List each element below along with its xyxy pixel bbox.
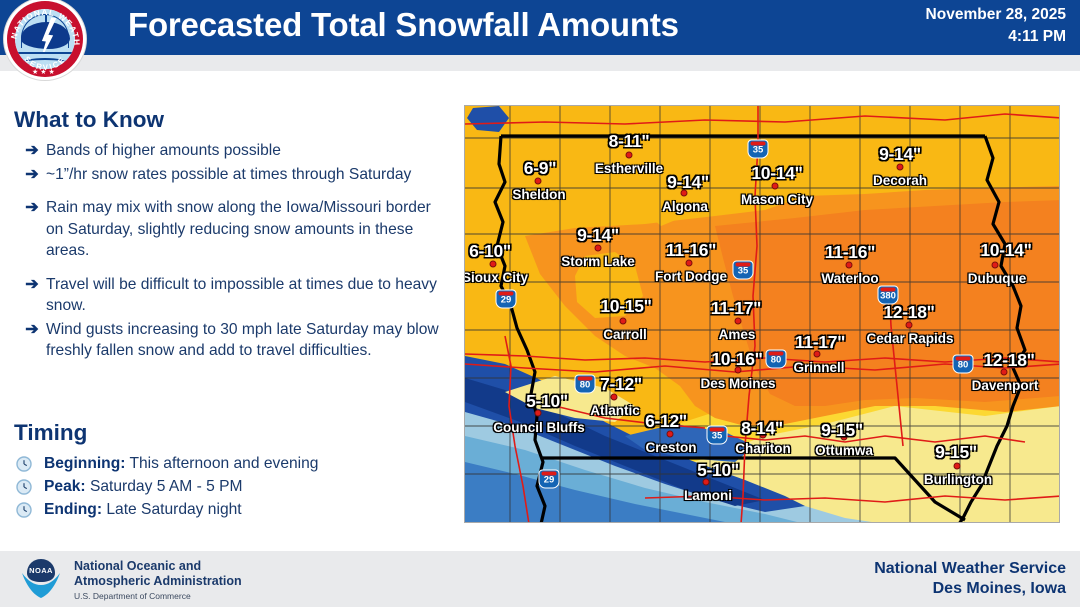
noaa-line-1: National Oceanic and [74,559,242,574]
timing-value: This afternoon and evening [129,455,318,472]
clock-icon [14,476,44,495]
highway-shield-i80: 80 [766,350,787,369]
nws-office-name: National Weather Service [874,559,1066,579]
highway-shield-i380: 380 [878,286,899,305]
city-dot-burlington [954,463,961,470]
city-label-creston: Creston [645,440,696,455]
national-weather-service-seal-icon: NATIONAL WEATHER SERVICE ★ ★ ★ [4,0,86,80]
what-to-know-title: What to Know [14,107,446,133]
city-label-mason-city: Mason City [741,192,813,207]
bullet-item: ➔ Travel will be difficult to impossible… [14,274,446,317]
snow-amount-sioux-city: 6-10" [469,241,511,262]
snow-amount-council-bluffs: 5-10" [526,391,568,412]
city-label-sioux-city: Sioux City [464,270,528,285]
arrow-icon: ➔ [14,197,46,219]
bullet-item: ➔ ~1”/hr snow rates possible at times th… [14,164,446,186]
timing-text: Beginning: This afternoon and evening [44,453,446,475]
snow-amount-des-moines: 10-16" [711,349,762,370]
bullet-item: ➔ Wind gusts increasing to 30 mph late S… [14,319,446,362]
svg-text:NATIONAL WEATHER: NATIONAL WEATHER [4,0,81,46]
city-label-des-moines: Des Moines [700,376,775,391]
what-to-know-panel: What to Know ➔ Bands of higher amounts p… [14,107,446,364]
city-label-burlington: Burlington [924,472,992,487]
city-label-decorah: Decorah [873,173,927,188]
snow-amount-ottumwa: 9-15" [821,420,863,441]
snow-amount-estherville: 8-11" [609,131,650,152]
noaa-line-2: Atmospheric Administration [74,574,242,589]
city-label-estherville: Estherville [595,161,663,176]
highway-shield-i29: 29 [496,290,517,309]
city-label-ottumwa: Ottumwa [815,443,873,458]
city-label-dubuque: Dubuque [968,271,1027,286]
snow-amount-storm-lake: 9-14" [577,225,619,246]
city-label-grinnell: Grinnell [793,360,844,375]
city-label-atlantic: Atlantic [590,403,640,418]
clock-icon [14,499,44,518]
timing-text: Peak: Saturday 5 AM - 5 PM [44,476,446,498]
city-label-davenport: Davenport [972,378,1039,393]
timing-value: Late Saturday night [106,501,241,518]
noaa-logo-icon: NOAA [18,557,64,601]
snow-amount-burlington: 9-15" [935,442,977,463]
nws-office-location: Des Moines, Iowa [874,579,1066,599]
bullet-text: Rain may mix with snow along the Iowa/Mi… [46,197,446,262]
snow-amount-ames: 11-17" [711,298,761,319]
timing-item: Beginning: This afternoon and evening [14,453,446,475]
snow-amount-chariton: 8-14" [741,418,783,439]
city-dot-estherville [626,152,633,159]
timing-title: Timing [14,420,446,446]
snow-amount-davenport: 12-18" [983,350,1034,371]
city-dot-dubuque [992,262,999,269]
snowfall-forecast-map[interactable]: Estherville Sheldon Algona Mason City De… [464,105,1060,523]
arrow-icon: ➔ [14,319,46,341]
snow-amount-algona: 9-14" [667,172,709,193]
snow-amount-creston: 6-12" [645,411,687,432]
city-label-ames: Ames [719,327,756,342]
arrow-icon: ➔ [14,140,46,162]
timing-value: Saturday 5 AM - 5 PM [90,478,243,495]
city-label-chariton: Chariton [735,441,791,456]
arrow-icon: ➔ [14,274,46,296]
snow-amount-carroll: 10-15" [600,296,651,317]
city-label-carroll: Carroll [603,327,647,342]
arrow-icon: ➔ [14,164,46,186]
city-label-cedar-rapids: Cedar Rapids [866,331,953,346]
snow-amount-waterloo: 11-16" [825,242,875,263]
bullet-item: ➔ Bands of higher amounts possible [14,140,446,162]
city-dot-carroll [620,318,627,325]
svg-text:NOAA: NOAA [29,566,53,575]
timing-panel: Timing Beginning: This afternoon and eve… [14,420,446,522]
snow-amount-sheldon: 6-9" [524,158,556,179]
timing-label: Ending: [44,501,102,518]
city-label-storm-lake: Storm Lake [561,254,635,269]
city-label-lamoni: Lamoni [684,488,732,503]
snow-amount-dubuque: 10-14" [980,240,1031,261]
header-time: 4:11 PM [926,26,1066,48]
noaa-agency-name: National Oceanic and Atmospheric Adminis… [74,559,242,588]
snow-amount-mason-city: 10-14" [751,163,802,184]
clock-icon [14,453,44,472]
city-label-sheldon: Sheldon [512,187,565,202]
header-subbar [0,55,1080,71]
highway-shield-i80: 80 [575,375,596,394]
snow-amount-lamoni: 5-10" [697,460,739,481]
snowfall-forecast-graphic: NATIONAL WEATHER SERVICE ★ ★ ★ Forecaste… [0,0,1080,607]
bullet-item: ➔ Rain may mix with snow along the Iowa/… [14,197,446,262]
timing-item: Ending: Late Saturday night [14,499,446,521]
city-label-algona: Algona [662,199,708,214]
svg-text:★ ★ ★: ★ ★ ★ [32,68,55,76]
city-label-waterloo: Waterloo [821,271,878,286]
footer-bar: NOAA National Oceanic and Atmospheric Ad… [0,551,1080,607]
page-title: Forecasted Total Snowfall Amounts [128,6,679,44]
timing-label: Beginning: [44,455,125,472]
timing-item: Peak: Saturday 5 AM - 5 PM [14,476,446,498]
bullet-text: ~1”/hr snow rates possible at times thro… [46,164,446,186]
snow-amount-grinnell: 11-17" [795,332,845,353]
city-label-council-bluffs: Council Bluffs [493,420,585,435]
snow-amount-decorah: 9-14" [879,144,921,165]
highway-shield-i35: 35 [707,426,728,445]
noaa-department-line: U.S. Department of Commerce [74,591,191,601]
snow-amount-atlantic: 7-12" [600,374,642,395]
timing-text: Ending: Late Saturday night [44,499,446,521]
header-date: November 28, 2025 [926,4,1066,26]
bullet-text: Wind gusts increasing to 30 mph late Sat… [46,319,446,362]
highway-shield-i35: 35 [733,261,754,280]
city-label-fort-dodge: Fort Dodge [655,269,727,284]
timing-label: Peak: [44,478,86,495]
bullet-text: Travel will be difficult to impossible a… [46,274,446,317]
nws-office-info: National Weather Service Des Moines, Iow… [874,559,1066,599]
highway-shield-i35: 35 [748,140,769,159]
bullet-text: Bands of higher amounts possible [46,140,446,162]
highway-shield-i29: 29 [539,470,560,489]
header-datetime: November 28, 2025 4:11 PM [926,4,1066,48]
snow-amount-cedar-rapids: 12-18" [883,302,934,323]
snow-amount-fort-dodge: 11-16" [666,240,716,261]
highway-shield-i80: 80 [953,355,974,374]
